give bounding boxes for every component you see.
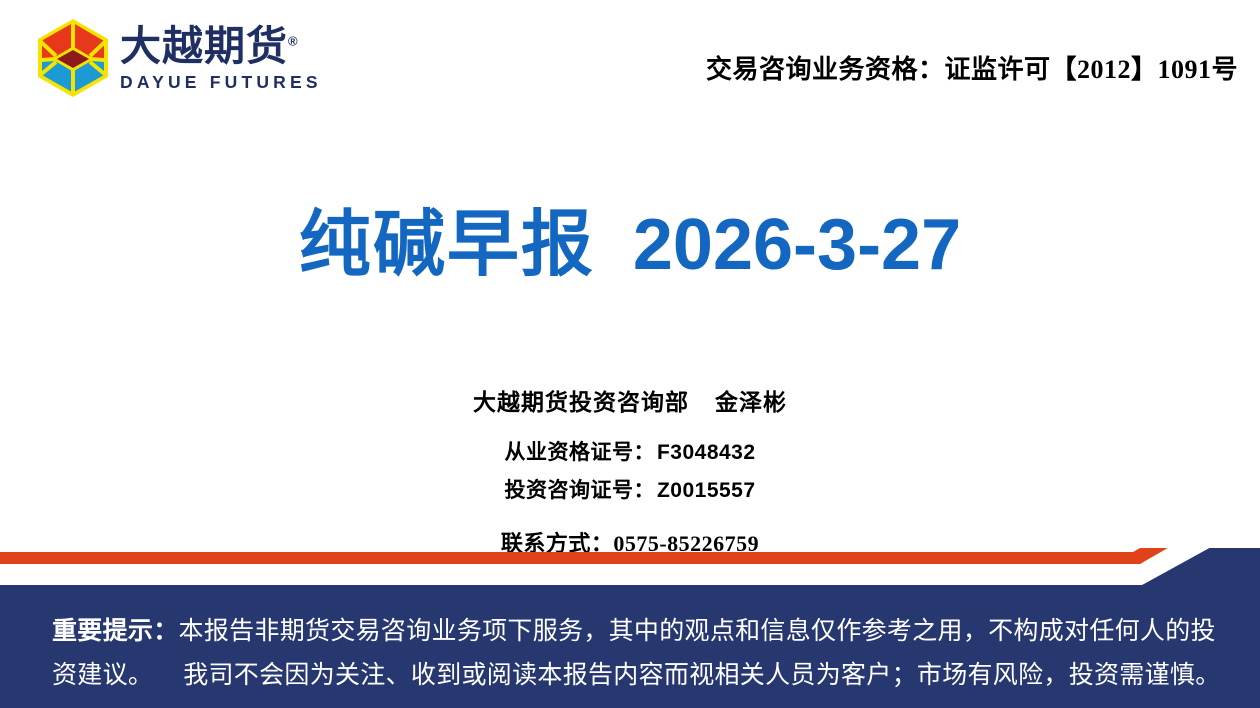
consulting-certificate-value: Z0015557 — [657, 479, 756, 502]
qualification-statement: 交易咨询业务资格：证监许可【2012】1091号 — [706, 49, 1238, 86]
footer-banner-shape — [0, 548, 1260, 708]
consulting-certificate-line: 投资咨询证号：Z0015557 — [0, 474, 1260, 504]
report-date: 2026-3-27 — [633, 205, 961, 285]
registered-trademark-icon: ® — [288, 34, 299, 49]
logo-wordmark: 大越期货® DAYUE FUTURES — [120, 23, 322, 92]
author-department-line: 大越期货投资咨询部金泽彬 — [0, 383, 1260, 417]
logo-company-name-cn: 大越期货® — [120, 25, 322, 68]
company-logo: 大越期货® DAYUE FUTURES — [36, 18, 322, 98]
footer-decoration — [0, 548, 1260, 708]
practice-certificate-value: F3048432 — [657, 441, 756, 464]
practice-certificate-label: 从业资格证号： — [504, 441, 655, 464]
consulting-certificate-label: 投资咨询证号： — [504, 479, 655, 502]
practice-certificate-line: 从业资格证号：F3048432 — [0, 436, 1260, 466]
logo-company-name-en: DAYUE FUTURES — [120, 72, 322, 93]
report-subject: 纯碱早报 — [299, 205, 595, 285]
author-name: 金泽彬 — [715, 389, 787, 415]
dayue-cube-logo-icon — [36, 18, 110, 98]
page-header: 大越期货® DAYUE FUTURES 交易咨询业务资格：证监许可【2012】1… — [0, 0, 1260, 120]
report-title: 纯碱早报2026-3-27 — [0, 206, 1260, 285]
author-info: 大越期货投资咨询部金泽彬 从业资格证号：F3048432 投资咨询证号：Z001… — [0, 383, 1260, 558]
author-department: 大越期货投资咨询部 — [473, 389, 689, 415]
footer-orange-stripe — [0, 548, 1260, 564]
